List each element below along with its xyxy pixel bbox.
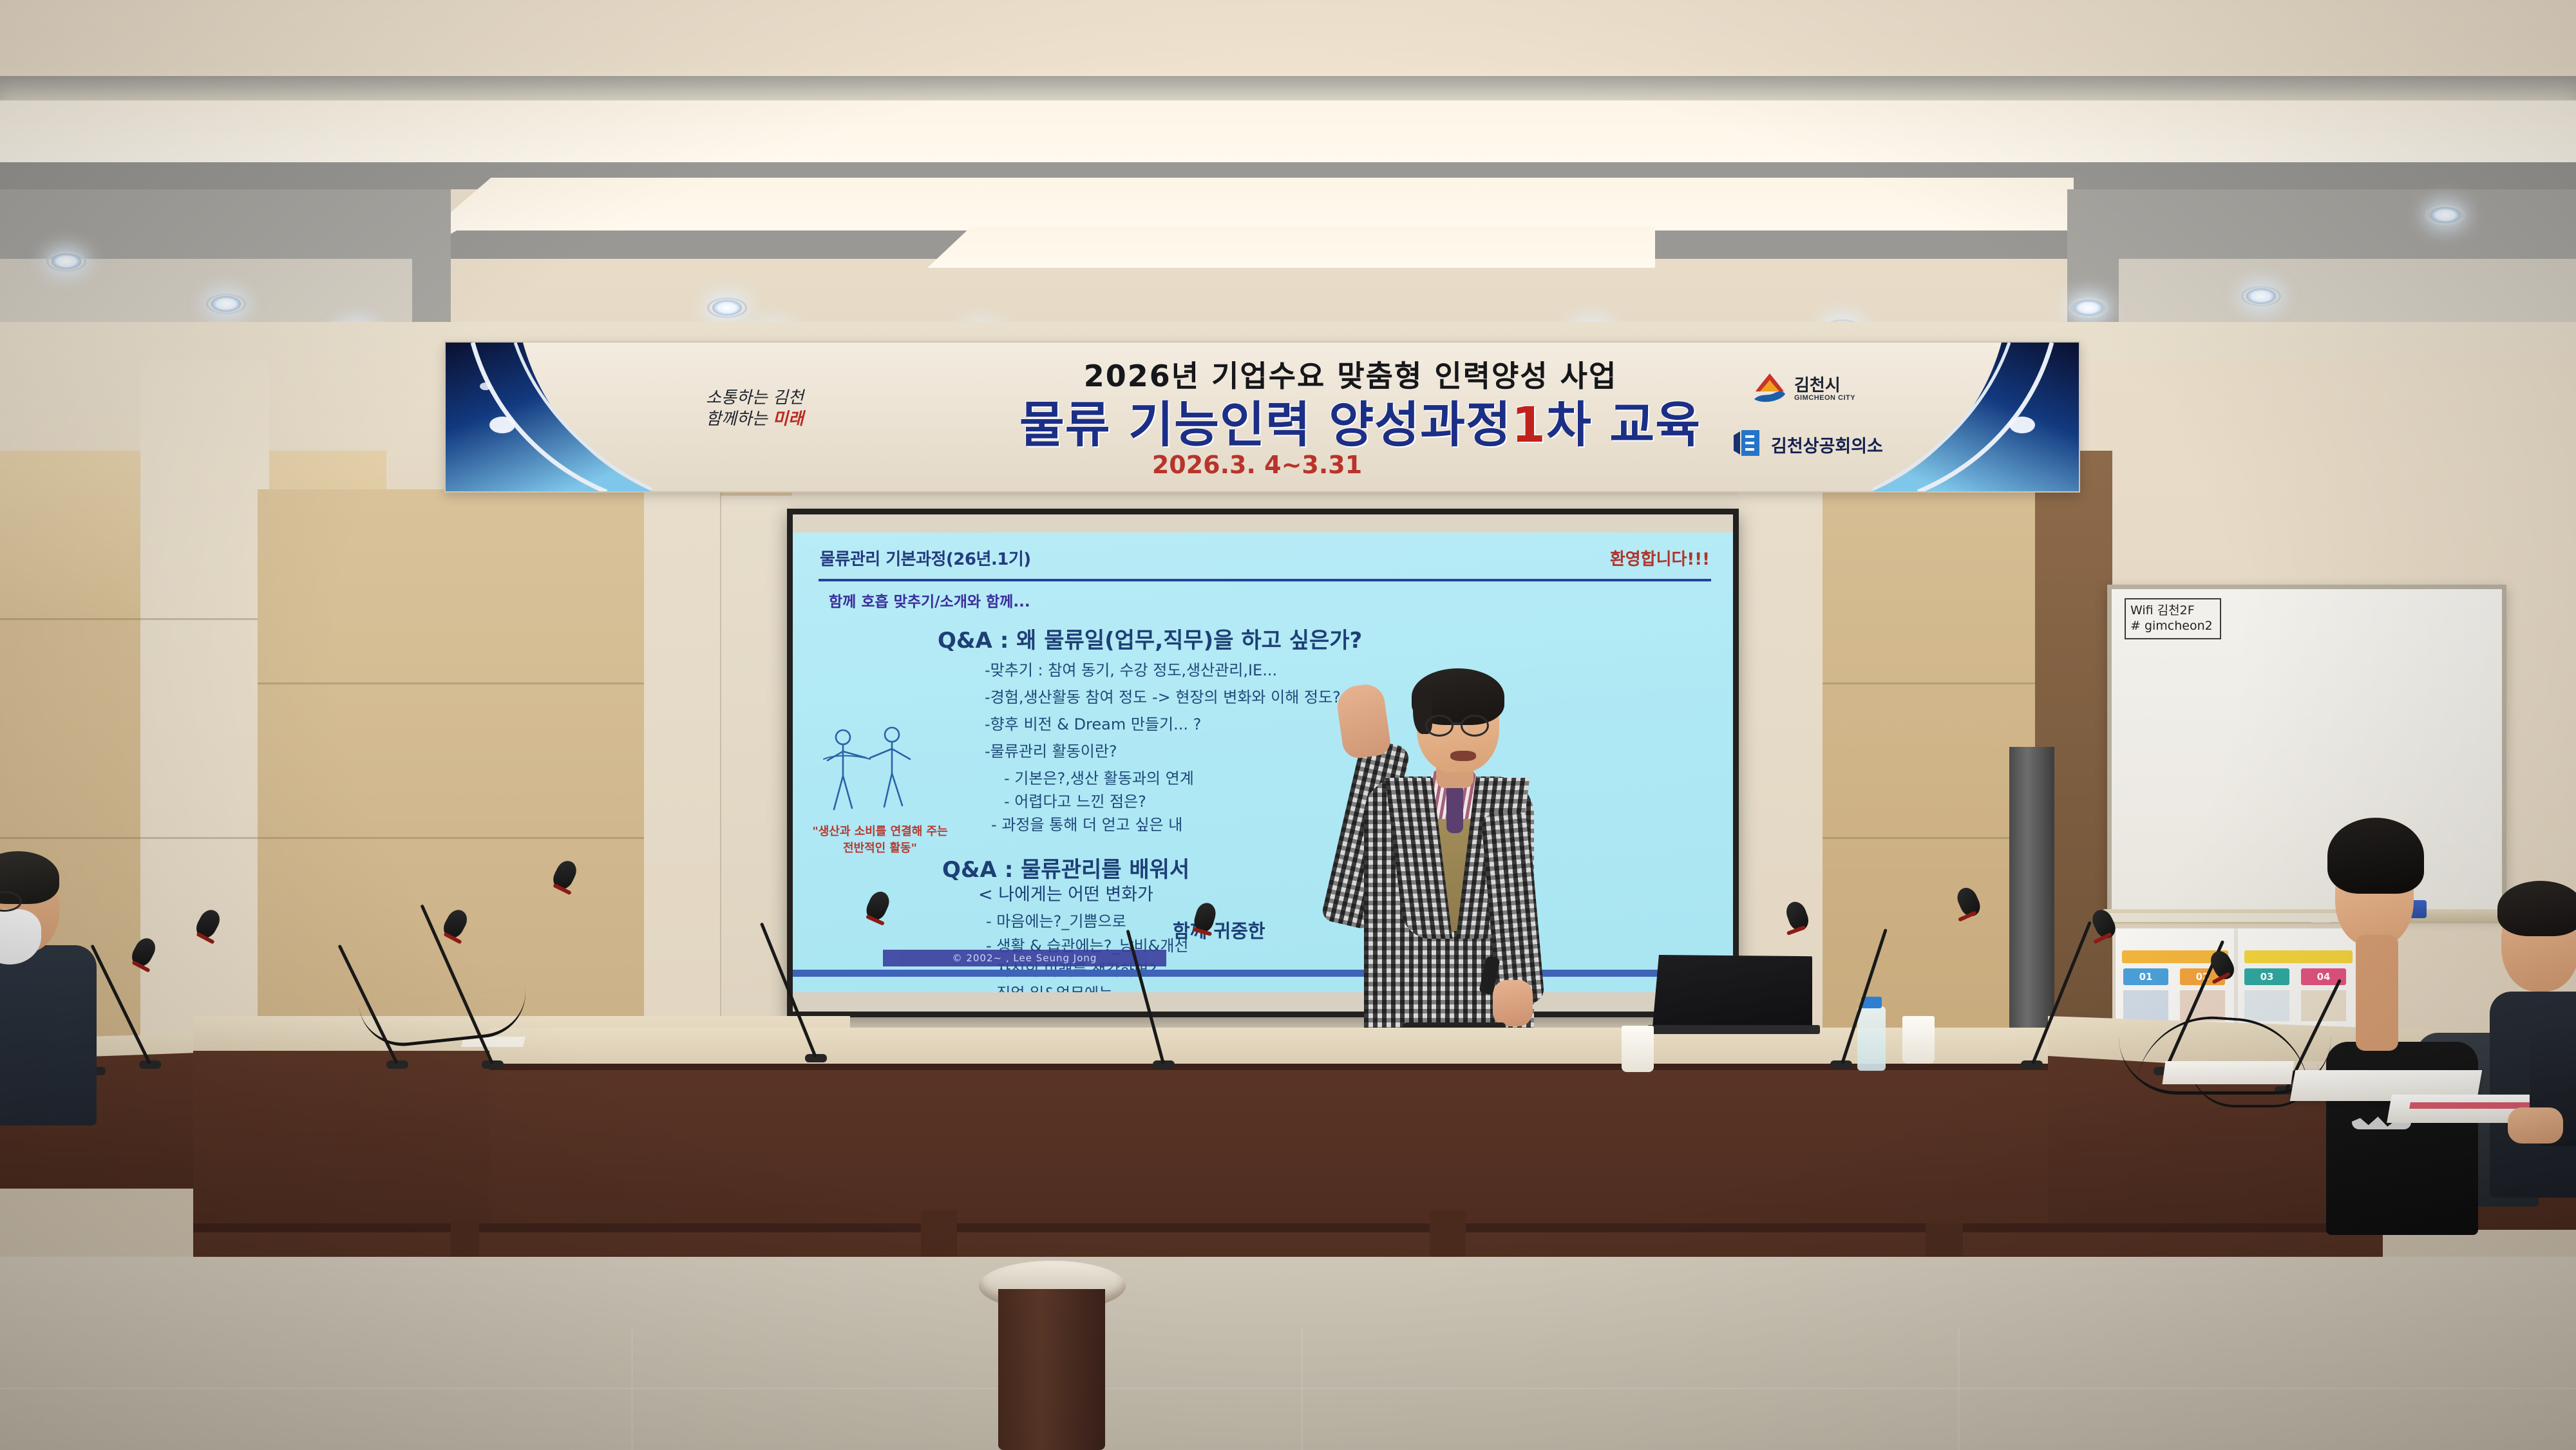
document-highlight-strip xyxy=(2409,1102,2533,1109)
slide-qa1-item-6: - 과정을 통해 더 얻고 싶은 내 xyxy=(991,812,1182,834)
projection-screen-frame: 물류관리 기본과정(26년.1기) 환영합니다!!! 함께 호흡 맞추기/소개와… xyxy=(787,509,1739,1017)
slide-qa1-item-3: -물류관리 활동이란? xyxy=(985,739,1117,761)
microphone-6 xyxy=(1153,914,1243,1069)
slide-subtitle: 함께 호흡 맞추기/소개와 함께... xyxy=(829,589,1030,611)
gimcheon-city-label-wrap: 김천시 GIMCHEON CITY xyxy=(1794,377,1855,402)
paper-cup-right xyxy=(1902,1016,1935,1064)
calligraphy-line-2b: 미래 xyxy=(773,410,804,429)
slide-credit-text: © 2002~ , Lee Seung Jong xyxy=(883,950,1166,966)
presenter-lower-hand xyxy=(1493,980,1533,1026)
slide-qa2-item-0: - 마음에는?_기쁨으로 xyxy=(986,909,1126,931)
microphone-4 xyxy=(482,876,578,1069)
floor-tile-seam-4 xyxy=(1958,1328,1960,1450)
gimcheon-city-label-kr: 김천시 xyxy=(1794,377,1855,394)
microphone-5 xyxy=(805,901,902,1062)
attendee-right-3 xyxy=(2530,1030,2576,1198)
ceiling-recess-1 xyxy=(0,76,2576,100)
attendee-right-1-neck xyxy=(2356,935,2398,1051)
banner-main-part1: 물류 기능인력 양성과정 xyxy=(1019,396,1511,453)
slide-qa2-item-3: - 직업,일&업무에는..... xyxy=(986,981,1137,992)
floor-tile-seam-2 xyxy=(631,1328,633,1450)
slide-header-right: 환영합니다!!! xyxy=(1610,546,1710,570)
cci-label: 김천상공회의소 xyxy=(1771,432,1883,457)
downlight-11 xyxy=(2430,207,2460,223)
banner-main-accent: 1 xyxy=(1511,396,1546,453)
slide-qa1-item-2: -향후 비전 & Dream 만들기... ? xyxy=(985,711,1201,734)
downlight-9 xyxy=(2074,300,2103,315)
floor-tile-seam-1 xyxy=(0,1388,2576,1389)
stool-base xyxy=(998,1289,1105,1450)
attendee-left xyxy=(0,837,129,1095)
presenter-glasses-bridge xyxy=(1453,722,1462,724)
attendee-right-1-hair xyxy=(2327,818,2424,894)
calligraphy-line-1: 소통하는 김천 xyxy=(674,388,835,409)
presenter-glasses-right-lens xyxy=(1461,715,1489,737)
slide-qa1-item-0: -맞추기 : 참여 동기, 수강 정도,생산관리,IE... xyxy=(985,657,1277,680)
gimcheon-mountain-icon xyxy=(1752,371,1788,408)
presenter-mouth xyxy=(1450,751,1476,761)
stage-front-edge xyxy=(193,1223,2383,1232)
presentation-slide: 물류관리 기본과정(26년.1기) 환영합니다!!! 함께 호흡 맞추기/소개와… xyxy=(793,532,1733,992)
calligraphy-line-2: 함께하는 미래 xyxy=(674,409,835,430)
slide-figure-caption: "생산과 소비를 연결해 주는 전반적인 활동" xyxy=(811,824,949,857)
wifi-ssid-line: Wifi 김천2F xyxy=(2130,603,2215,619)
slide-divider xyxy=(819,579,1711,581)
slide-qa2-heading: Q&A : 물류관리를 배워서 xyxy=(942,852,1189,883)
downlight-10 xyxy=(2246,288,2276,304)
calligraphy-line-2a: 함께하는 xyxy=(706,410,773,429)
slide-header-left: 물류관리 기본과정(26년.1기) xyxy=(820,546,1031,570)
attendee-right-3-hand xyxy=(2508,1107,2563,1144)
cci-gear-icon xyxy=(1731,428,1765,462)
presenter-raised-hand xyxy=(1335,682,1392,760)
wifi-password-line: # gimcheon2 xyxy=(2130,619,2215,634)
gimcheon-city-label-en: GIMCHEON CITY xyxy=(1794,394,1855,402)
paper-cup-left xyxy=(1622,1026,1654,1072)
slide-caption-line-1: "생산과 소비를 연결해 주는 xyxy=(811,824,949,840)
water-bottle xyxy=(1857,1006,1886,1071)
paper-left-desk xyxy=(2162,1061,2294,1084)
microphone-8 xyxy=(1945,901,2048,1069)
floor xyxy=(0,1257,2576,1450)
whiteboard-wifi-note: Wifi 김천2F # gimcheon2 xyxy=(2125,598,2221,639)
lecture-hall-photo: 2026년 기업수요 맞춤형 인력양성 사업 물류 기능인력 양성과정1차 교육… xyxy=(0,0,2576,1450)
projection-screen: 물류관리 기본과정(26년.1기) 환영합니다!!! 함께 호흡 맞추기/소개와… xyxy=(793,514,1733,1012)
slide-header: 물류관리 기본과정(26년.1기) 환영합니다!!! xyxy=(820,539,1710,576)
two-people-figure-icon xyxy=(820,726,942,822)
event-banner: 2026년 기업수요 맞춤형 인력양성 사업 물류 기능인력 양성과정1차 교육… xyxy=(444,341,2080,493)
banner-date-range: 2026.3. 4~3.31 xyxy=(935,451,1579,479)
ceiling-cove-light-1 xyxy=(0,100,2576,162)
round-stool xyxy=(979,1261,1126,1450)
downlight-2 xyxy=(211,296,241,312)
presenter xyxy=(1340,663,1558,1037)
downlight-4 xyxy=(712,300,742,315)
presenter-tie xyxy=(1446,787,1463,833)
slide-qa1-heading: Q&A : 왜 물류일(업무,직무)을 하고 싶은가? xyxy=(938,623,1362,654)
slide-qa1-item-4: - 기본은?,생산 활동과의 연계 xyxy=(1004,766,1194,788)
slide-caption-line-2: 전반적인 활동" xyxy=(811,840,949,857)
attendee-right-1 xyxy=(2297,789,2490,1092)
attendee-right-2-hair xyxy=(2497,881,2576,936)
banner-main-part2: 차 교육 xyxy=(1546,396,1701,453)
floor-tile-seam-3 xyxy=(1301,1328,1303,1450)
slide-footer-bar xyxy=(793,970,1733,977)
slide-qa1-item-1: -경험,생산활동 참여 정도 -> 현장의 변화와 이해 정도? xyxy=(985,684,1341,707)
slide-qa1-item-5: - 어렵다고 느낀 점은? xyxy=(1004,789,1146,811)
banner-calligraphy: 소통하는 김천 함께하는 미래 xyxy=(674,388,835,429)
downlight-1 xyxy=(52,254,81,269)
attendee-left-torso xyxy=(0,945,97,1125)
gimcheon-cci-logo: 김천상공회의소 xyxy=(1731,428,1883,462)
presenter-glasses-left-lens xyxy=(1425,715,1454,737)
gimcheon-city-logo: 김천시 GIMCHEON CITY xyxy=(1752,371,1855,408)
microphone-7 xyxy=(1766,914,1856,1069)
slide-qa2-sub: < 나에게는 어떤 변화가 xyxy=(978,880,1153,905)
ceiling-cove-light-3 xyxy=(927,227,1655,268)
ceiling-cove-light-2 xyxy=(425,178,2074,234)
microphone-2 xyxy=(139,921,223,1069)
banner-main-title: 물류 기능인력 양성과정1차 교육 xyxy=(858,385,1862,456)
